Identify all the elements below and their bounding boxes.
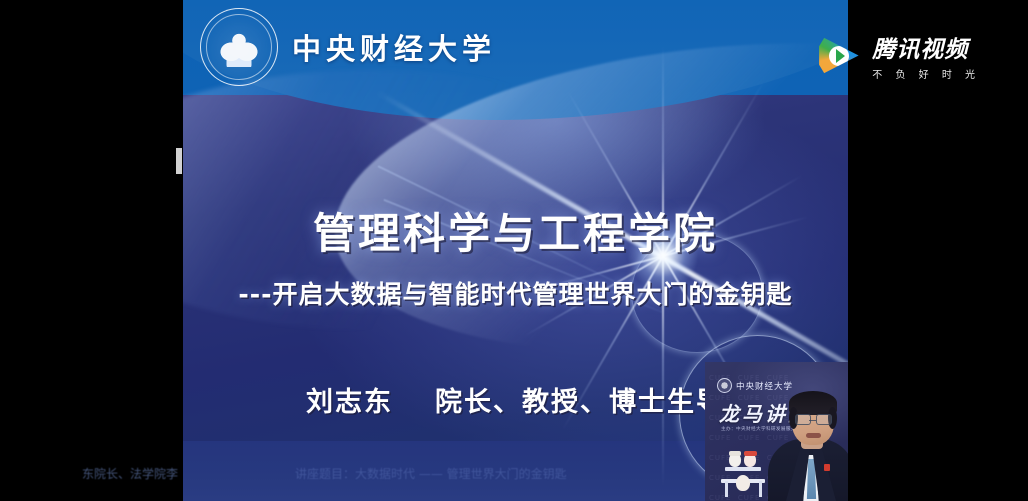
- caption-line-a: 东院长、法学院李: [82, 465, 178, 482]
- tencent-play-icon: [818, 35, 860, 77]
- tencent-video-watermark: 腾讯视频 不 负 好 时 光: [818, 30, 980, 81]
- tencent-wordmark: 腾讯视频 不 负 好 时 光: [872, 30, 980, 81]
- speaker-camera-pip[interactable]: CUFE CUFE CUFE CUFE CUFE CUFE CUFE CUFE …: [705, 362, 848, 501]
- slide-title: 管理科学与工程学院: [183, 200, 848, 261]
- video-player[interactable]: 中央财经大学 管理科学与工程学院 ---开启大数据与智能时代管理世界大门的金钥匙…: [0, 0, 1028, 501]
- university-name: 中央财经大学: [292, 26, 496, 68]
- seal-emblem-icon: [219, 27, 259, 67]
- slide-university-header: 中央财经大学: [200, 8, 496, 86]
- university-seal-icon: [717, 378, 732, 393]
- desk-model-decoration-icon: [717, 439, 771, 497]
- tencent-brand-name: 腾讯视频: [872, 30, 980, 64]
- presenter-name: 刘志东: [306, 387, 393, 418]
- presenter-role: 院长、教授、博士生导: [435, 387, 725, 418]
- speaker-avatar-icon: [768, 389, 848, 501]
- slide-subtitle: ---开启大数据与智能时代管理世界大门的金钥匙: [183, 275, 848, 311]
- tencent-slogan: 不 负 好 时 光: [872, 66, 980, 81]
- university-seal-icon: [200, 8, 278, 86]
- video-edge-marker: [176, 148, 182, 174]
